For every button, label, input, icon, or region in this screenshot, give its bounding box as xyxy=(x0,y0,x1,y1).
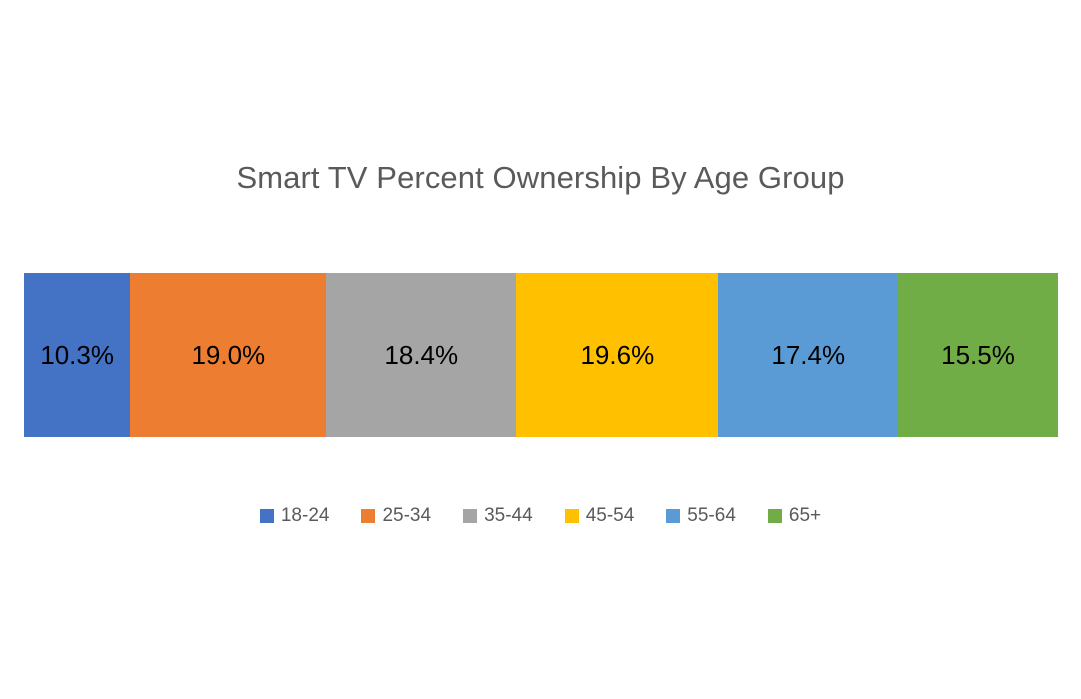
legend-item[interactable]: 18-24 xyxy=(260,506,330,525)
legend-color-swatch-icon xyxy=(666,509,680,523)
bar-segment[interactable]: 19.6% xyxy=(516,273,718,437)
legend-item[interactable]: 45-54 xyxy=(565,506,635,525)
legend-color-swatch-icon xyxy=(768,509,782,523)
legend-item[interactable]: 65+ xyxy=(768,506,821,525)
chart-legend: 18-2425-3435-4445-5455-6465+ xyxy=(0,506,1081,525)
bar-segment[interactable]: 18.4% xyxy=(326,273,516,437)
bar-segment[interactable]: 10.3% xyxy=(24,273,130,437)
legend-color-swatch-icon xyxy=(361,509,375,523)
bar-segment-value-label: 10.3% xyxy=(40,342,114,368)
legend-color-swatch-icon xyxy=(463,509,477,523)
legend-item[interactable]: 25-34 xyxy=(361,506,431,525)
bar-segment-value-label: 19.6% xyxy=(580,342,654,368)
legend-item-label: 65+ xyxy=(789,506,821,525)
legend-item-label: 25-34 xyxy=(382,506,431,525)
stacked-bar: 10.3%19.0%18.4%19.6%17.4%15.5% xyxy=(24,273,1058,437)
bar-segment-value-label: 18.4% xyxy=(384,342,458,368)
bar-segment-value-label: 19.0% xyxy=(191,342,265,368)
legend-color-swatch-icon xyxy=(260,509,274,523)
legend-item-label: 18-24 xyxy=(281,506,330,525)
legend-item-label: 55-64 xyxy=(687,506,736,525)
legend-color-swatch-icon xyxy=(565,509,579,523)
bar-segment-value-label: 15.5% xyxy=(941,342,1015,368)
legend-item[interactable]: 55-64 xyxy=(666,506,736,525)
legend-item-label: 35-44 xyxy=(484,506,533,525)
chart-container: Smart TV Percent Ownership By Age Group … xyxy=(0,0,1081,699)
legend-item-label: 45-54 xyxy=(586,506,635,525)
bar-segment[interactable]: 15.5% xyxy=(898,273,1058,437)
bar-segment-value-label: 17.4% xyxy=(771,342,845,368)
chart-title: Smart TV Percent Ownership By Age Group xyxy=(0,160,1081,196)
plot-area: 10.3%19.0%18.4%19.6%17.4%15.5% xyxy=(24,273,1058,437)
bar-segment[interactable]: 19.0% xyxy=(130,273,326,437)
bar-segment[interactable]: 17.4% xyxy=(718,273,898,437)
legend-item[interactable]: 35-44 xyxy=(463,506,533,525)
